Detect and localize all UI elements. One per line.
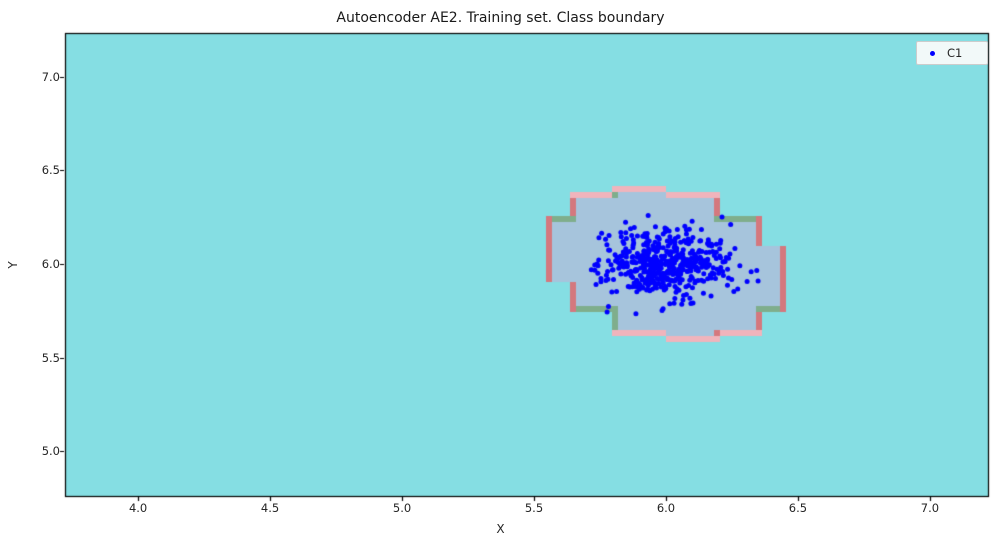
x-tick-label: 4.0: [129, 501, 147, 515]
legend[interactable]: C1: [916, 41, 988, 65]
y-tick-label: 5.5: [42, 351, 60, 365]
scatter-plot-canvas[interactable]: [0, 0, 1001, 547]
y-tick-label: 5.0: [42, 444, 60, 458]
circle-marker-icon: [930, 51, 935, 56]
chart-figure: Autoencoder AE2. Training set. Class bou…: [0, 0, 1001, 547]
y-tick-label: 6.0: [42, 257, 60, 271]
x-tick-label: 5.5: [525, 501, 543, 515]
x-tick-label: 7.0: [921, 501, 939, 515]
x-tick-label: 4.5: [261, 501, 279, 515]
y-tick-label: 7.0: [42, 70, 60, 84]
x-tick-label: 6.5: [789, 501, 807, 515]
x-tick-label: 5.0: [393, 501, 411, 515]
x-tick-label: 6.0: [657, 501, 675, 515]
y-tick-label: 6.5: [42, 163, 60, 177]
legend-marker-c1: [917, 51, 947, 56]
legend-label-c1: C1: [947, 46, 970, 60]
